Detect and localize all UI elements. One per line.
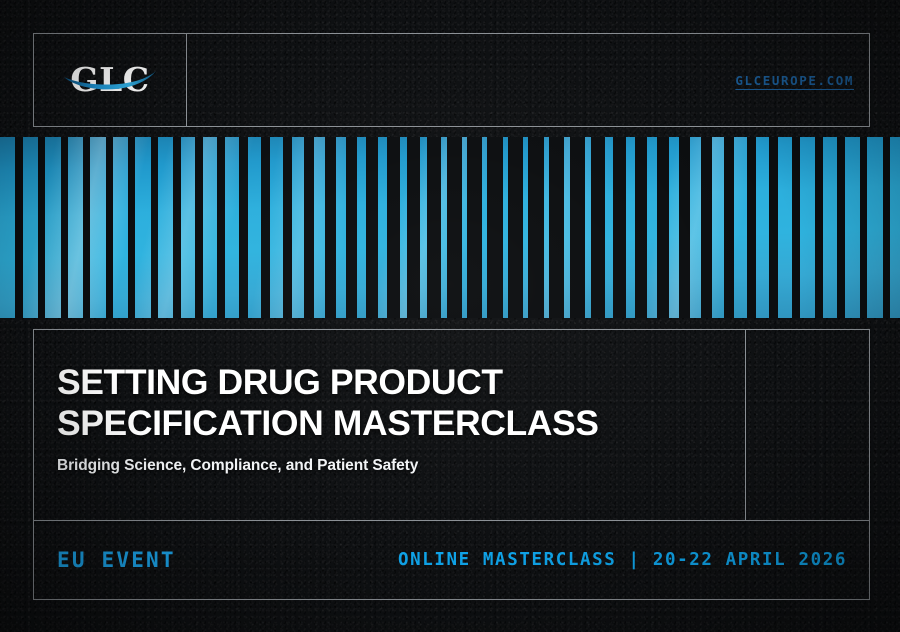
- event-title: SETTING DRUG PRODUCT SPECIFICATION MASTE…: [57, 362, 729, 444]
- title-block: SETTING DRUG PRODUCT SPECIFICATION MASTE…: [34, 330, 869, 521]
- main-frame: SETTING DRUG PRODUCT SPECIFICATION MASTE…: [33, 329, 870, 600]
- region-tag: EU EVENT: [57, 548, 176, 572]
- event-meta: ONLINE MASTERCLASS | 20-22 APRIL 2026: [398, 550, 847, 570]
- logo-cell: GLC: [34, 34, 187, 126]
- striped-blue-banner: [0, 137, 900, 318]
- event-subtitle: Bridging Science, Compliance, and Patien…: [57, 457, 729, 475]
- event-poster: GLC GLCEUROPE.COM SETTING DRUG PRODUCT S…: [0, 0, 900, 632]
- title-vertical-divider: [745, 330, 746, 520]
- title-text-group: SETTING DRUG PRODUCT SPECIFICATION MASTE…: [57, 362, 729, 475]
- header-frame: GLC GLCEUROPE.COM: [33, 33, 870, 127]
- svg-text:GLC: GLC: [70, 60, 149, 99]
- footer-row: EU EVENT ONLINE MASTERCLASS | 20-22 APRI…: [34, 520, 869, 599]
- website-url-link[interactable]: GLCEUROPE.COM: [735, 73, 854, 88]
- banner-image: [0, 137, 900, 318]
- glc-logo[interactable]: GLC: [62, 59, 158, 101]
- header-right: GLCEUROPE.COM: [187, 34, 869, 126]
